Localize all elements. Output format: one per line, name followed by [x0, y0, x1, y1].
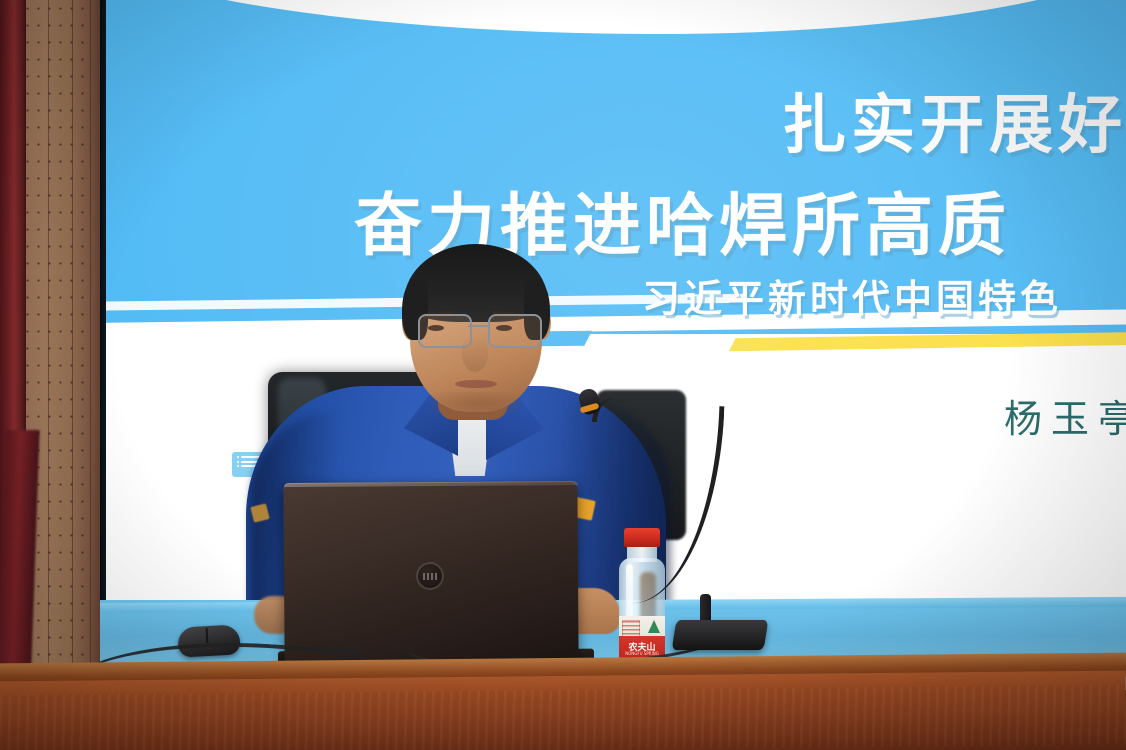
chin-shadow [432, 392, 520, 414]
lens-right [488, 314, 542, 348]
table-wood-grain [0, 685, 1126, 750]
mouth [455, 380, 497, 388]
glasses-bridge [468, 325, 488, 327]
slide-subline: 习近平新时代中国特色 [642, 268, 1062, 323]
slide-presenter-name: 杨玉亭 [1004, 388, 1126, 443]
nose [462, 336, 488, 372]
photo-scene: 扎实开展好 奋力推进哈焊所高质 习近平新时代中国特色 杨玉亭 [0, 0, 1126, 750]
laptop-brand-logo-icon [416, 562, 444, 590]
microphone-base [672, 620, 769, 650]
slide-headline-line-1: 扎实开展好 [782, 74, 1126, 166]
